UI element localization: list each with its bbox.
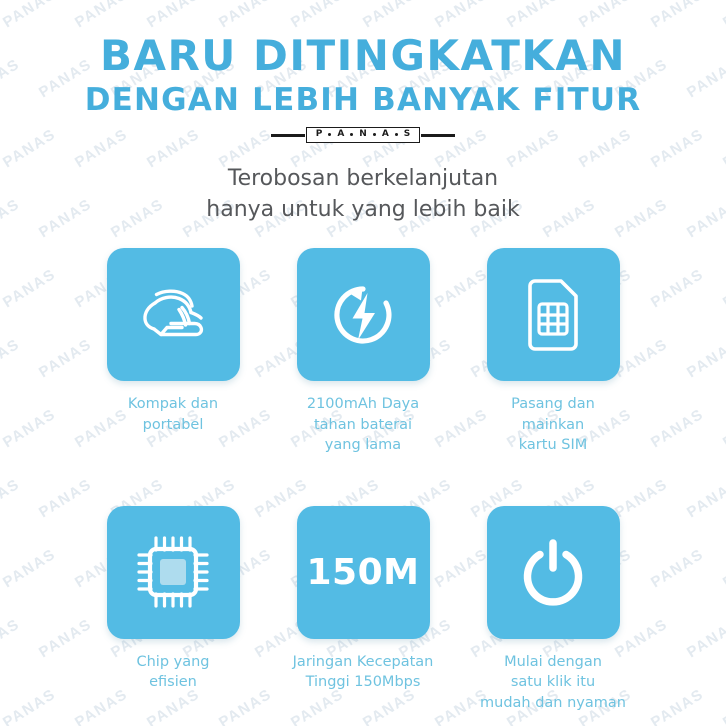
speed-value-text: 150M (307, 552, 420, 593)
brand-divider: P A N A S (0, 127, 726, 143)
watermark-text: PANAS (216, 0, 275, 31)
plate-dot-icon (328, 133, 331, 136)
brand-plate: P A N A S (306, 127, 421, 143)
feature-card-compact-portable[interactable]: Kompak dan portabel (107, 248, 240, 456)
feature-card-sim-card[interactable]: Pasang dan mainkan kartu SIM (487, 248, 620, 456)
cpu-chip-icon (134, 533, 212, 611)
plate-dot-icon (395, 133, 398, 136)
plate-dot-icon (350, 133, 353, 136)
watermark-text: PANAS (360, 0, 419, 31)
feature-card-efficient-chip[interactable]: Chip yang efisien (107, 506, 240, 714)
feature-label: Mulai dengan satu klik itu mudah dan nya… (469, 652, 637, 714)
watermark-text: PANAS (0, 0, 59, 31)
feature-card-one-click-start[interactable]: Mulai dengan satu klik itu mudah dan nya… (487, 506, 620, 714)
feature-tile: 150M (297, 506, 430, 639)
watermark-text: PANAS (720, 0, 726, 31)
plate-letter-1: A (337, 130, 344, 139)
poster-canvas: PANASPANASPANASPANASPANASPANASPANASPANAS… (0, 0, 726, 726)
watermark-text: PANAS (72, 0, 131, 31)
page-title: BARU DITINGKATKAN DENGAN LEBIH BANYAK FI… (0, 34, 726, 118)
watermark-text: PANAS (144, 0, 203, 31)
hand-holding-device-icon (135, 284, 211, 346)
plate-letter-4: S (404, 130, 410, 139)
feature-label: Kompak dan portabel (89, 394, 257, 435)
feature-tile (107, 248, 240, 381)
plate-dot-icon (373, 133, 376, 136)
feature-tile (297, 248, 430, 381)
feature-tile (487, 506, 620, 639)
subtitle-line-2: hanya untuk yang lebih baik (0, 194, 726, 225)
subtitle: Terobosan berkelanjutan hanya untuk yang… (0, 163, 726, 225)
watermark-text: PANAS (576, 0, 635, 31)
feature-label: Pasang dan mainkan kartu SIM (469, 394, 637, 456)
feature-tile (487, 248, 620, 381)
feature-label: Chip yang efisien (89, 652, 257, 693)
divider-rule-left (271, 134, 305, 137)
sim-card-icon (525, 279, 581, 351)
plate-letter-0: P (316, 130, 323, 139)
feature-grid: Kompak dan portabel 2100mAh Daya tahan b… (0, 248, 726, 713)
feature-label: Jaringan Kecepatan Tinggi 150Mbps (279, 652, 447, 693)
plate-letter-2: N (359, 130, 367, 139)
divider-rule-right (421, 134, 455, 137)
subtitle-line-1: Terobosan berkelanjutan (0, 163, 726, 194)
feature-card-network-speed[interactable]: 150M Jaringan Kecepatan Tinggi 150Mbps (297, 506, 430, 714)
watermark-text: PANAS (288, 0, 347, 31)
watermark-text: PANAS (648, 0, 707, 31)
watermark-text: PANAS (504, 0, 563, 31)
battery-charge-cycle-icon (328, 280, 398, 350)
feature-tile (107, 506, 240, 639)
watermark-text: PANAS (432, 0, 491, 31)
plate-letter-3: A (382, 130, 389, 139)
feature-card-battery-life[interactable]: 2100mAh Daya tahan baterai yang lama (297, 248, 430, 456)
power-button-icon (520, 537, 586, 607)
feature-row-1: Kompak dan portabel 2100mAh Daya tahan b… (0, 248, 726, 456)
headline-primary: BARU DITINGKATKAN (0, 34, 726, 79)
feature-label: 2100mAh Daya tahan baterai yang lama (279, 394, 447, 456)
headline-secondary: DENGAN LEBIH BANYAK FITUR (0, 83, 726, 119)
feature-row-2: Chip yang efisien 150M Jaringan Kecepata… (0, 506, 726, 714)
